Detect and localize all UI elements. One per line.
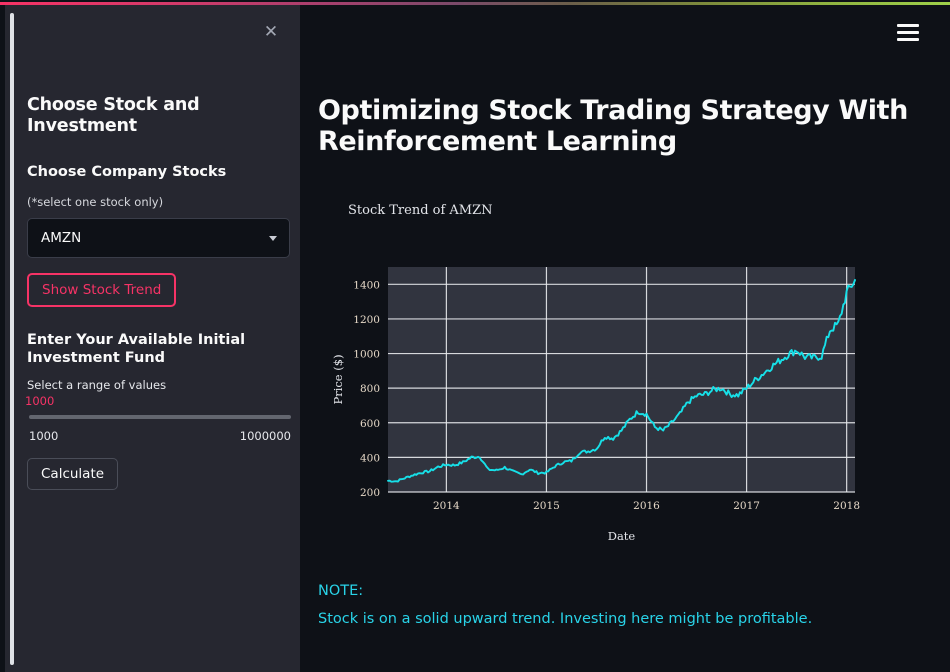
hamburger-menu-icon[interactable] xyxy=(897,24,919,42)
show-stock-trend-label: Show Stock Trend xyxy=(42,282,161,298)
y-tick-label: 200 xyxy=(360,487,380,499)
sidebar: ✕ Choose Stock and Investment Choose Com… xyxy=(5,5,300,672)
page-title: Optimizing Stock Trading Strategy With R… xyxy=(318,95,918,158)
y-tick-label: 600 xyxy=(360,418,380,430)
y-tick-label: 400 xyxy=(360,452,380,464)
x-tick-label: 2018 xyxy=(833,500,860,512)
stock-select-hint: (*select one stock only) xyxy=(27,195,163,209)
calculate-button-label: Calculate xyxy=(41,466,104,482)
x-axis-label: Date xyxy=(608,529,636,540)
main-content: Optimizing Stock Trading Strategy With R… xyxy=(300,5,945,672)
sidebar-heading: Choose Stock and Investment xyxy=(27,95,277,138)
x-tick-label: 2016 xyxy=(633,500,660,512)
x-tick-label: 2014 xyxy=(433,500,460,512)
y-tick-label: 1200 xyxy=(353,314,380,326)
note-label: NOTE: xyxy=(318,583,918,599)
note-block: NOTE: Stock is on a solid upward trend. … xyxy=(318,583,918,627)
x-tick-label: 2017 xyxy=(733,500,760,512)
top-strip-spacer xyxy=(0,0,950,2)
loading-gradient-bar xyxy=(0,2,950,5)
y-axis-label: Price ($) xyxy=(331,354,345,404)
y-tick-label: 1000 xyxy=(353,349,380,361)
slider-hint: Select a range of values xyxy=(27,378,166,392)
chevron-down-icon xyxy=(269,236,277,241)
y-tick-label: 1400 xyxy=(353,279,380,291)
plot-background xyxy=(388,267,855,492)
hamburger-bar-3 xyxy=(897,38,919,41)
investment-fund-label: Enter Your Available Initial Investment … xyxy=(27,332,282,367)
slider-current-value: 1000 xyxy=(25,394,54,408)
close-icon[interactable]: ✕ xyxy=(258,19,284,45)
slider-max-label: 1000000 xyxy=(240,429,291,443)
choose-company-stocks-label: Choose Company Stocks xyxy=(27,164,282,182)
hamburger-bar-2 xyxy=(897,31,919,34)
investment-slider-track[interactable] xyxy=(29,415,291,419)
slider-min-label: 1000 xyxy=(29,429,58,443)
stock-select[interactable]: AMZN xyxy=(27,218,290,258)
calculate-button[interactable]: Calculate xyxy=(27,458,118,490)
show-stock-trend-button[interactable]: Show Stock Trend xyxy=(27,273,176,307)
stock-select-value: AMZN xyxy=(41,230,81,246)
streamlit-app-window: ✕ Choose Stock and Investment Choose Com… xyxy=(0,0,950,672)
note-text: Stock is on a solid upward trend. Invest… xyxy=(318,611,918,627)
sidebar-scrollbar[interactable] xyxy=(10,13,14,665)
x-tick-label: 2015 xyxy=(533,500,560,512)
stock-trend-chart: Stock Trend of AMZN 20040060080010001200… xyxy=(318,195,930,540)
hamburger-bar-1 xyxy=(897,24,919,27)
chart-canvas: 2004006008001000120014002014201520162017… xyxy=(318,195,930,540)
y-tick-label: 800 xyxy=(360,383,380,395)
